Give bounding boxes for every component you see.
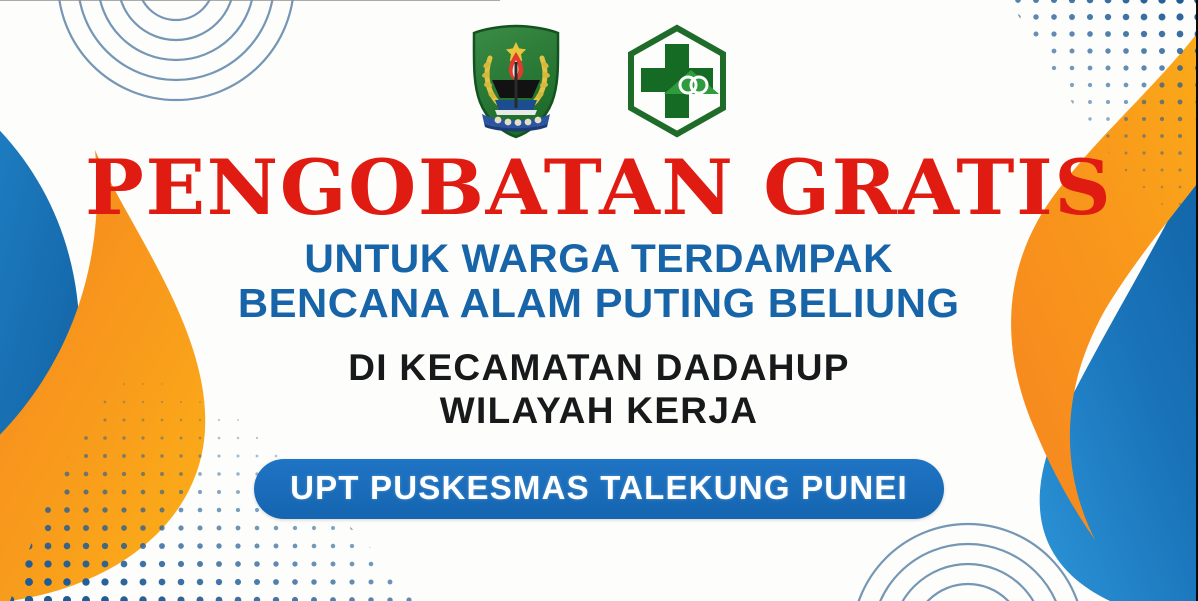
organizer-badge: UPT PUSKESMAS TALEKUNG PUNEI — [254, 459, 944, 519]
location-text: DI KECAMATAN DADAHUP WILAYAH KERJA — [348, 347, 850, 432]
logo-row — [462, 22, 736, 140]
poster-content: PENGOBATAN GRATIS UNTUK WARGA TERDAMPAK … — [0, 0, 1198, 601]
page-title: PENGOBATAN GRATIS — [85, 150, 1112, 226]
puskesmas-green-cross-logo — [618, 22, 736, 140]
poster-banner: PENGOBATAN GRATIS UNTUK WARGA TERDAMPAK … — [0, 0, 1198, 601]
subtitle-line-2: BENCANA ALAM PUTING BELIUNG — [238, 281, 960, 325]
location-line-1: DI KECAMATAN DADAHUP — [348, 347, 850, 390]
location-line-2: WILAYAH KERJA — [348, 390, 850, 433]
subtitle: UNTUK WARGA TERDAMPAK BENCANA ALAM PUTIN… — [238, 238, 960, 325]
subtitle-line-1: UNTUK WARGA TERDAMPAK — [238, 238, 960, 281]
kabupaten-kapuas-emblem-logo — [462, 22, 570, 140]
